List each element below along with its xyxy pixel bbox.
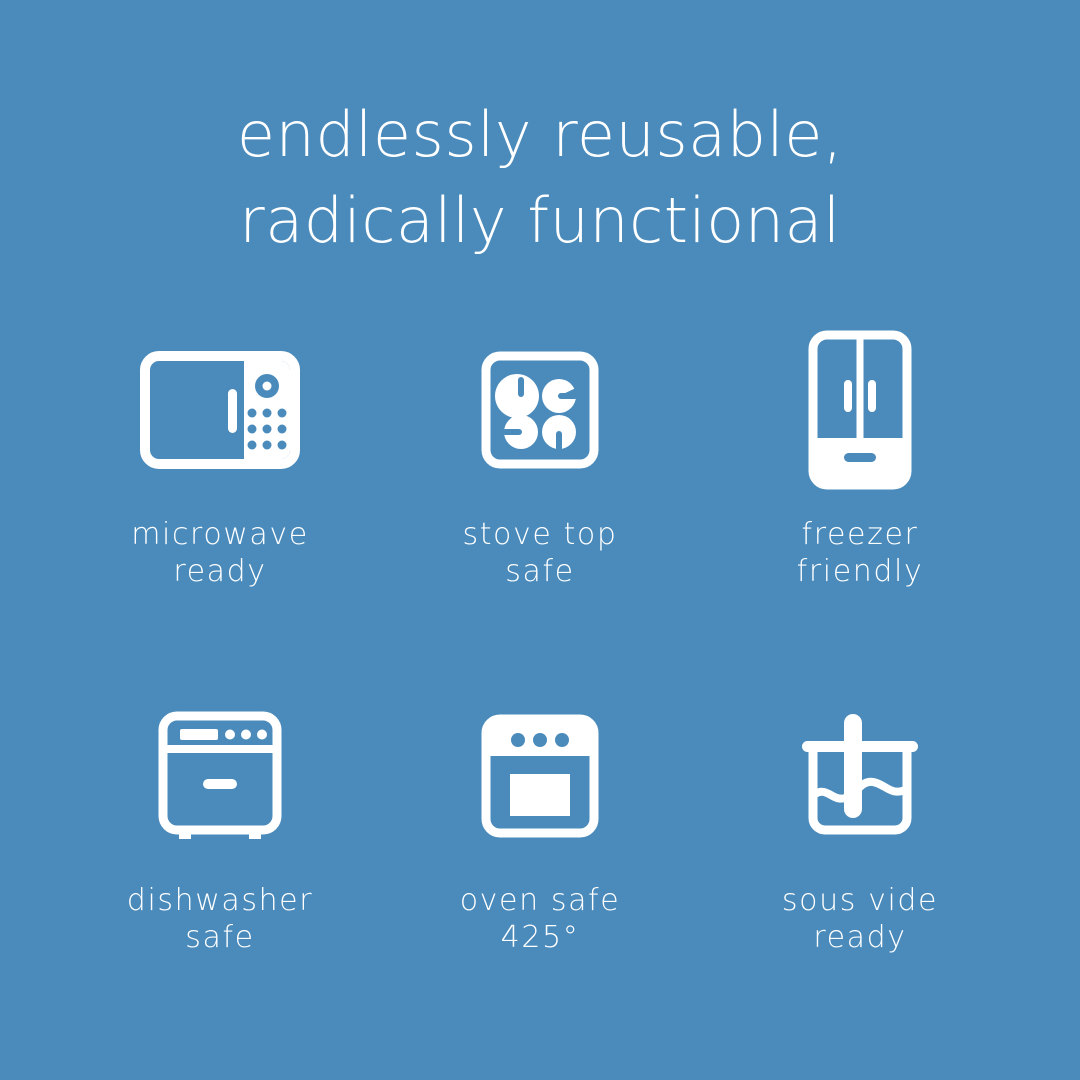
feature-label-line-1: freezer <box>797 516 924 553</box>
microwave-icon <box>140 320 300 500</box>
feature-label-sous-vide: sous vide ready <box>782 882 938 956</box>
feature-item-oven: oven safe 425° <box>380 686 700 986</box>
feature-label-line-1: microwave <box>131 516 309 553</box>
feature-item-stove-top: stove top safe <box>380 320 700 620</box>
stove-top-icon <box>481 320 599 500</box>
headline-line-2: radically functional <box>0 178 1080 264</box>
feature-item-microwave: microwave ready <box>60 320 380 620</box>
feature-label-line-2: safe <box>127 919 313 956</box>
feature-label-line-2: ready <box>131 553 309 590</box>
feature-label-dishwasher: dishwasher safe <box>127 882 313 956</box>
feature-item-sous-vide: sous vide ready <box>700 686 1020 986</box>
feature-label-line-1: dishwasher <box>127 882 313 919</box>
feature-label-freezer: freezer friendly <box>797 516 924 590</box>
feature-item-freezer: freezer friendly <box>700 320 1020 620</box>
page-title: endlessly reusable, radically functional <box>0 92 1080 264</box>
oven-icon <box>481 686 599 866</box>
feature-label-stove-top: stove top safe <box>462 516 617 590</box>
feature-label-line-1: stove top <box>462 516 617 553</box>
feature-label-oven: oven safe 425° <box>460 882 621 956</box>
feature-label-microwave: microwave ready <box>131 516 309 590</box>
feature-grid: microwave ready <box>60 320 1020 986</box>
feature-label-line-1: oven safe <box>460 882 621 919</box>
sous-vide-icon <box>795 686 925 866</box>
feature-badges-graphic: endlessly reusable, radically functional <box>0 0 1080 1080</box>
feature-label-line-1: sous vide <box>782 882 938 919</box>
feature-label-line-2: safe <box>462 553 617 590</box>
dishwasher-icon <box>158 686 282 866</box>
headline-line-1: endlessly reusable, <box>0 92 1080 178</box>
freezer-icon <box>808 320 912 500</box>
feature-label-line-2: friendly <box>797 553 924 590</box>
feature-item-dishwasher: dishwasher safe <box>60 686 380 986</box>
feature-label-line-2: 425° <box>460 919 621 956</box>
feature-label-line-2: ready <box>782 919 938 956</box>
